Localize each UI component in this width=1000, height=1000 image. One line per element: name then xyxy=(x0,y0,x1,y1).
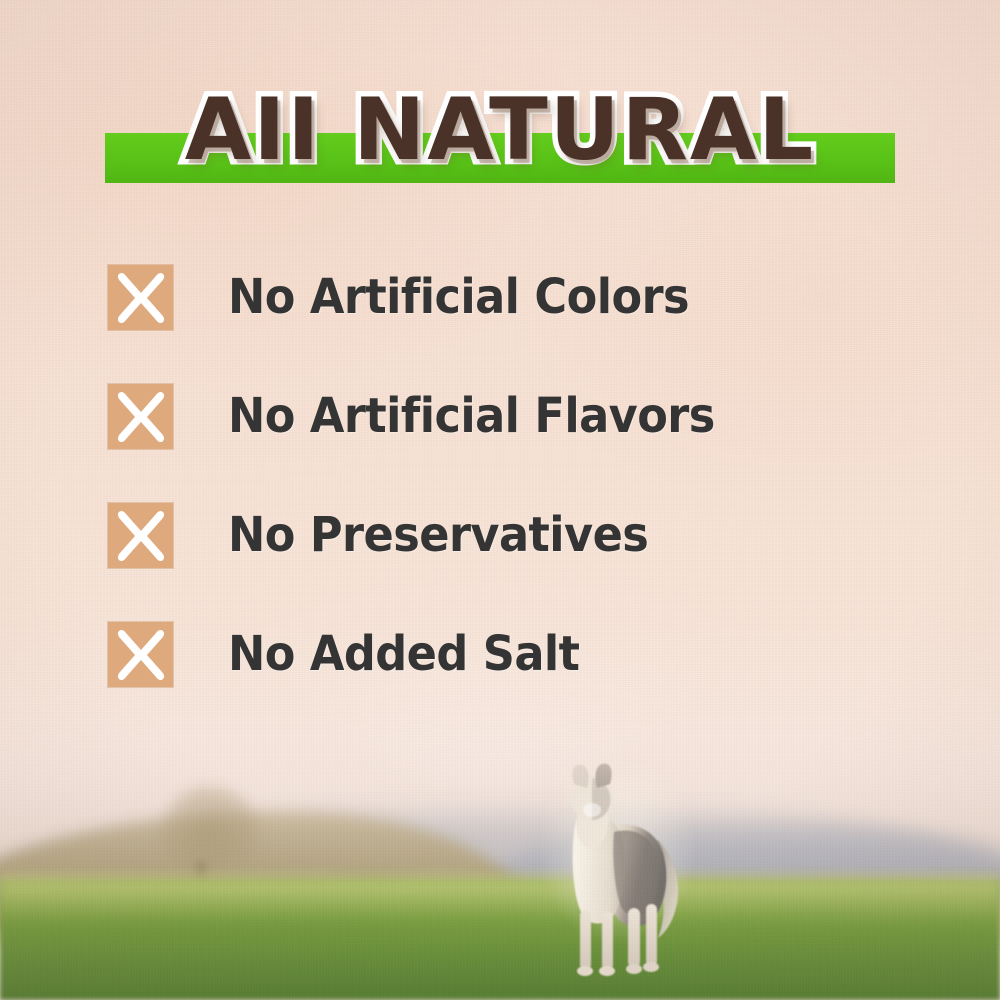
feature-label: No Preservatives xyxy=(228,507,648,563)
feature-label: No Artificial Colors xyxy=(228,269,689,325)
x-mark-icon xyxy=(108,384,173,449)
x-mark-icon xyxy=(108,265,173,330)
list-item: No Artificial Colors xyxy=(108,262,928,332)
feature-label: No Added Salt xyxy=(228,626,579,682)
x-mark-icon xyxy=(108,622,173,687)
x-mark-icon xyxy=(108,503,173,568)
all-natural-poster: AII NATURAL No Artificial Colors No Art xyxy=(0,0,1000,1000)
page-title: AII NATURAL xyxy=(0,78,1000,182)
list-item: No Added Salt xyxy=(108,619,928,689)
content-layer: AII NATURAL No Artificial Colors No Art xyxy=(0,0,1000,1000)
list-item: No Preservatives xyxy=(108,500,928,570)
list-item: No Artificial Flavors xyxy=(108,381,928,451)
feature-list: No Artificial Colors No Artificial Flavo… xyxy=(108,262,928,689)
feature-label: No Artificial Flavors xyxy=(228,388,715,444)
headline-block: AII NATURAL xyxy=(0,78,1000,190)
